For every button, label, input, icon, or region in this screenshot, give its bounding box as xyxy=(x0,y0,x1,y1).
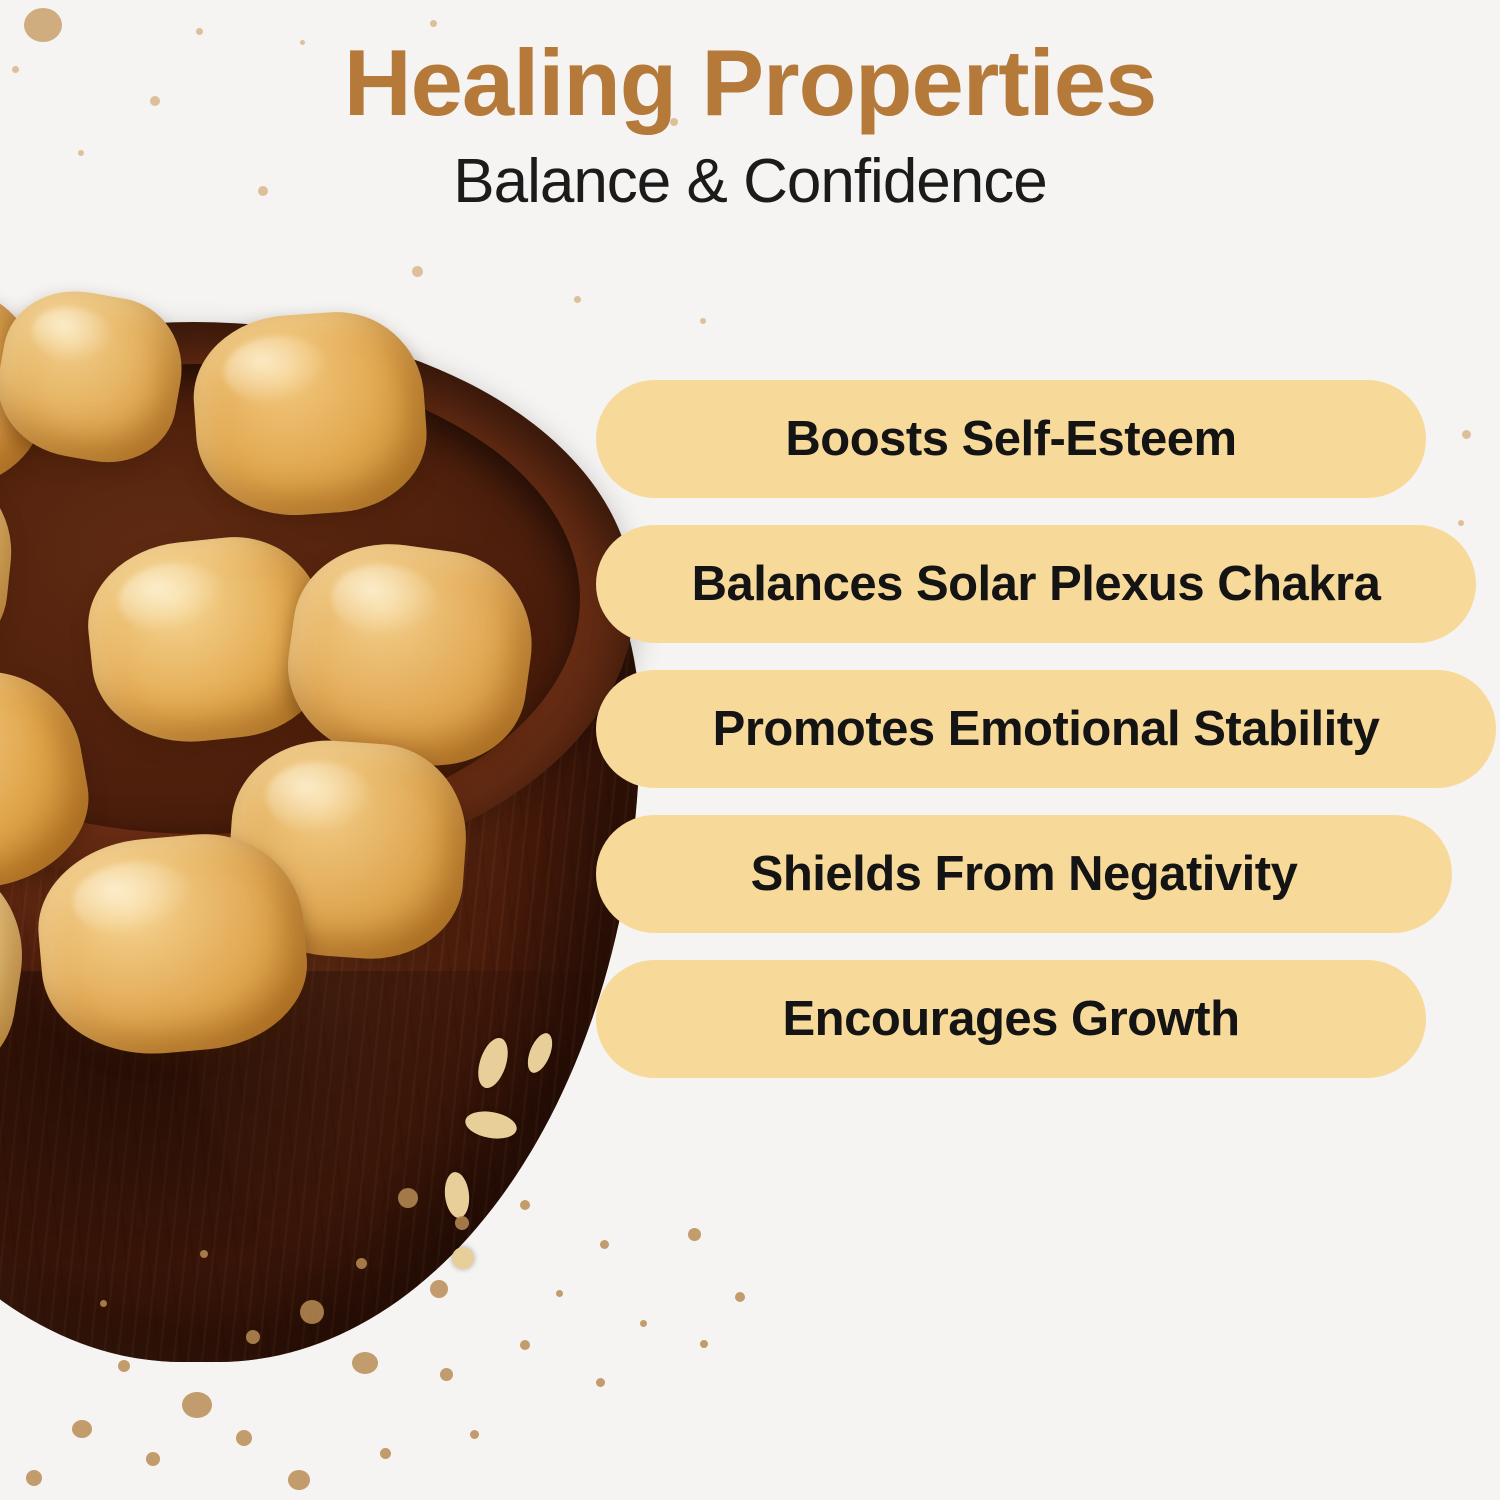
speckle-dot xyxy=(735,1292,745,1302)
page-title: Healing Properties xyxy=(0,34,1500,133)
speckle-dot xyxy=(72,1420,92,1438)
benefit-pill[interactable]: Balances Solar Plexus Chakra xyxy=(596,525,1476,643)
speckle-dot xyxy=(455,1216,469,1230)
speckle-dot xyxy=(700,1340,708,1348)
speckle-dot xyxy=(246,1330,260,1344)
benefit-label: Balances Solar Plexus Chakra xyxy=(692,556,1381,612)
benefit-label: Boosts Self-Esteem xyxy=(785,411,1236,467)
speckle-dot xyxy=(430,1280,448,1298)
benefits-list: Boosts Self-Esteem Balances Solar Plexus… xyxy=(596,380,1500,1105)
benefit-pill[interactable]: Encourages Growth xyxy=(596,960,1426,1078)
tumbled-stone xyxy=(188,306,431,522)
speckle-dot xyxy=(200,1250,208,1258)
speckle-dot xyxy=(100,1300,107,1307)
header: Healing Properties Balance & Confidence xyxy=(0,0,1500,214)
speckle-dot xyxy=(700,318,706,324)
speckle-dot xyxy=(520,1200,530,1210)
bowl-inlay-dot xyxy=(452,1247,474,1269)
page-subtitle: Balance & Confidence xyxy=(0,149,1500,214)
speckle-dot xyxy=(352,1352,378,1374)
benefit-pill[interactable]: Boosts Self-Esteem xyxy=(596,380,1426,498)
speckle-dot xyxy=(470,1430,479,1439)
speckle-dot xyxy=(380,1448,391,1459)
benefit-label: Encourages Growth xyxy=(782,991,1239,1047)
speckle-dot xyxy=(236,1430,252,1446)
benefit-label: Promotes Emotional Stability xyxy=(713,701,1380,757)
speckle-dot xyxy=(182,1392,212,1418)
speckle-dot xyxy=(398,1188,418,1208)
speckle-dot xyxy=(356,1258,367,1269)
speckle-dot xyxy=(520,1340,530,1350)
poster-canvas: Healing Properties Balance & Confidence … xyxy=(0,0,1500,1500)
speckle-dot xyxy=(118,1360,130,1372)
speckle-dot xyxy=(640,1320,647,1327)
speckle-dot xyxy=(440,1368,453,1381)
speckle-dot xyxy=(556,1290,563,1297)
benefit-pill[interactable]: Promotes Emotional Stability xyxy=(596,670,1496,788)
speckle-dot xyxy=(300,1300,324,1324)
speckle-dot xyxy=(600,1240,609,1249)
benefit-label: Shields From Negativity xyxy=(751,846,1298,902)
speckle-dot xyxy=(596,1378,605,1387)
speckle-dot xyxy=(288,1470,310,1490)
speckle-dot xyxy=(146,1452,160,1466)
benefit-pill[interactable]: Shields From Negativity xyxy=(596,815,1452,933)
speckle-dot xyxy=(26,1470,42,1486)
product-photo xyxy=(0,272,660,1352)
speckle-dot xyxy=(688,1228,701,1241)
